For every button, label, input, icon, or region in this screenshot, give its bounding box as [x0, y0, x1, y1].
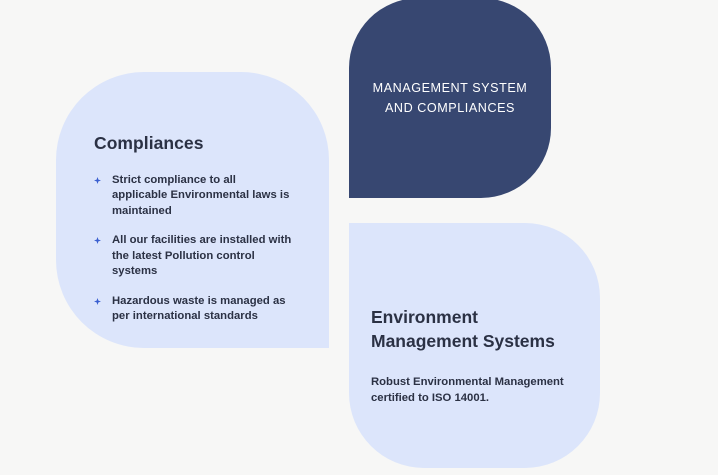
- hero-title: MANAGEMENT SYSTEM AND COMPLIANCES: [363, 78, 538, 118]
- compliances-bullet-list: Strict compliance to all applicable Envi…: [94, 173, 293, 325]
- list-item-label: Strict compliance to all applicable Envi…: [112, 174, 289, 217]
- list-item: All our facilities are installed with th…: [94, 233, 293, 280]
- list-item: Strict compliance to all applicable Envi…: [94, 173, 293, 220]
- list-item: Hazardous waste is managed as per intern…: [94, 294, 293, 325]
- diamond-icon: [94, 298, 101, 305]
- diamond-icon: [94, 177, 101, 184]
- environment-management-systems-card: Environment Management Systems Robust En…: [349, 223, 600, 468]
- ems-body-text: Robust Environmental Management certifie…: [371, 375, 572, 406]
- management-system-hero-card: MANAGEMENT SYSTEM AND COMPLIANCES: [349, 0, 551, 198]
- compliances-card: Compliances Strict compliance to all app…: [56, 72, 329, 348]
- list-item-label: Hazardous waste is managed as per intern…: [112, 295, 286, 323]
- ems-heading: Environment Management Systems: [371, 305, 572, 353]
- list-item-label: All our facilities are installed with th…: [112, 234, 291, 277]
- infographic-canvas: MANAGEMENT SYSTEM AND COMPLIANCES Compli…: [0, 0, 718, 475]
- compliances-heading: Compliances: [94, 132, 293, 155]
- diamond-icon: [94, 237, 101, 244]
